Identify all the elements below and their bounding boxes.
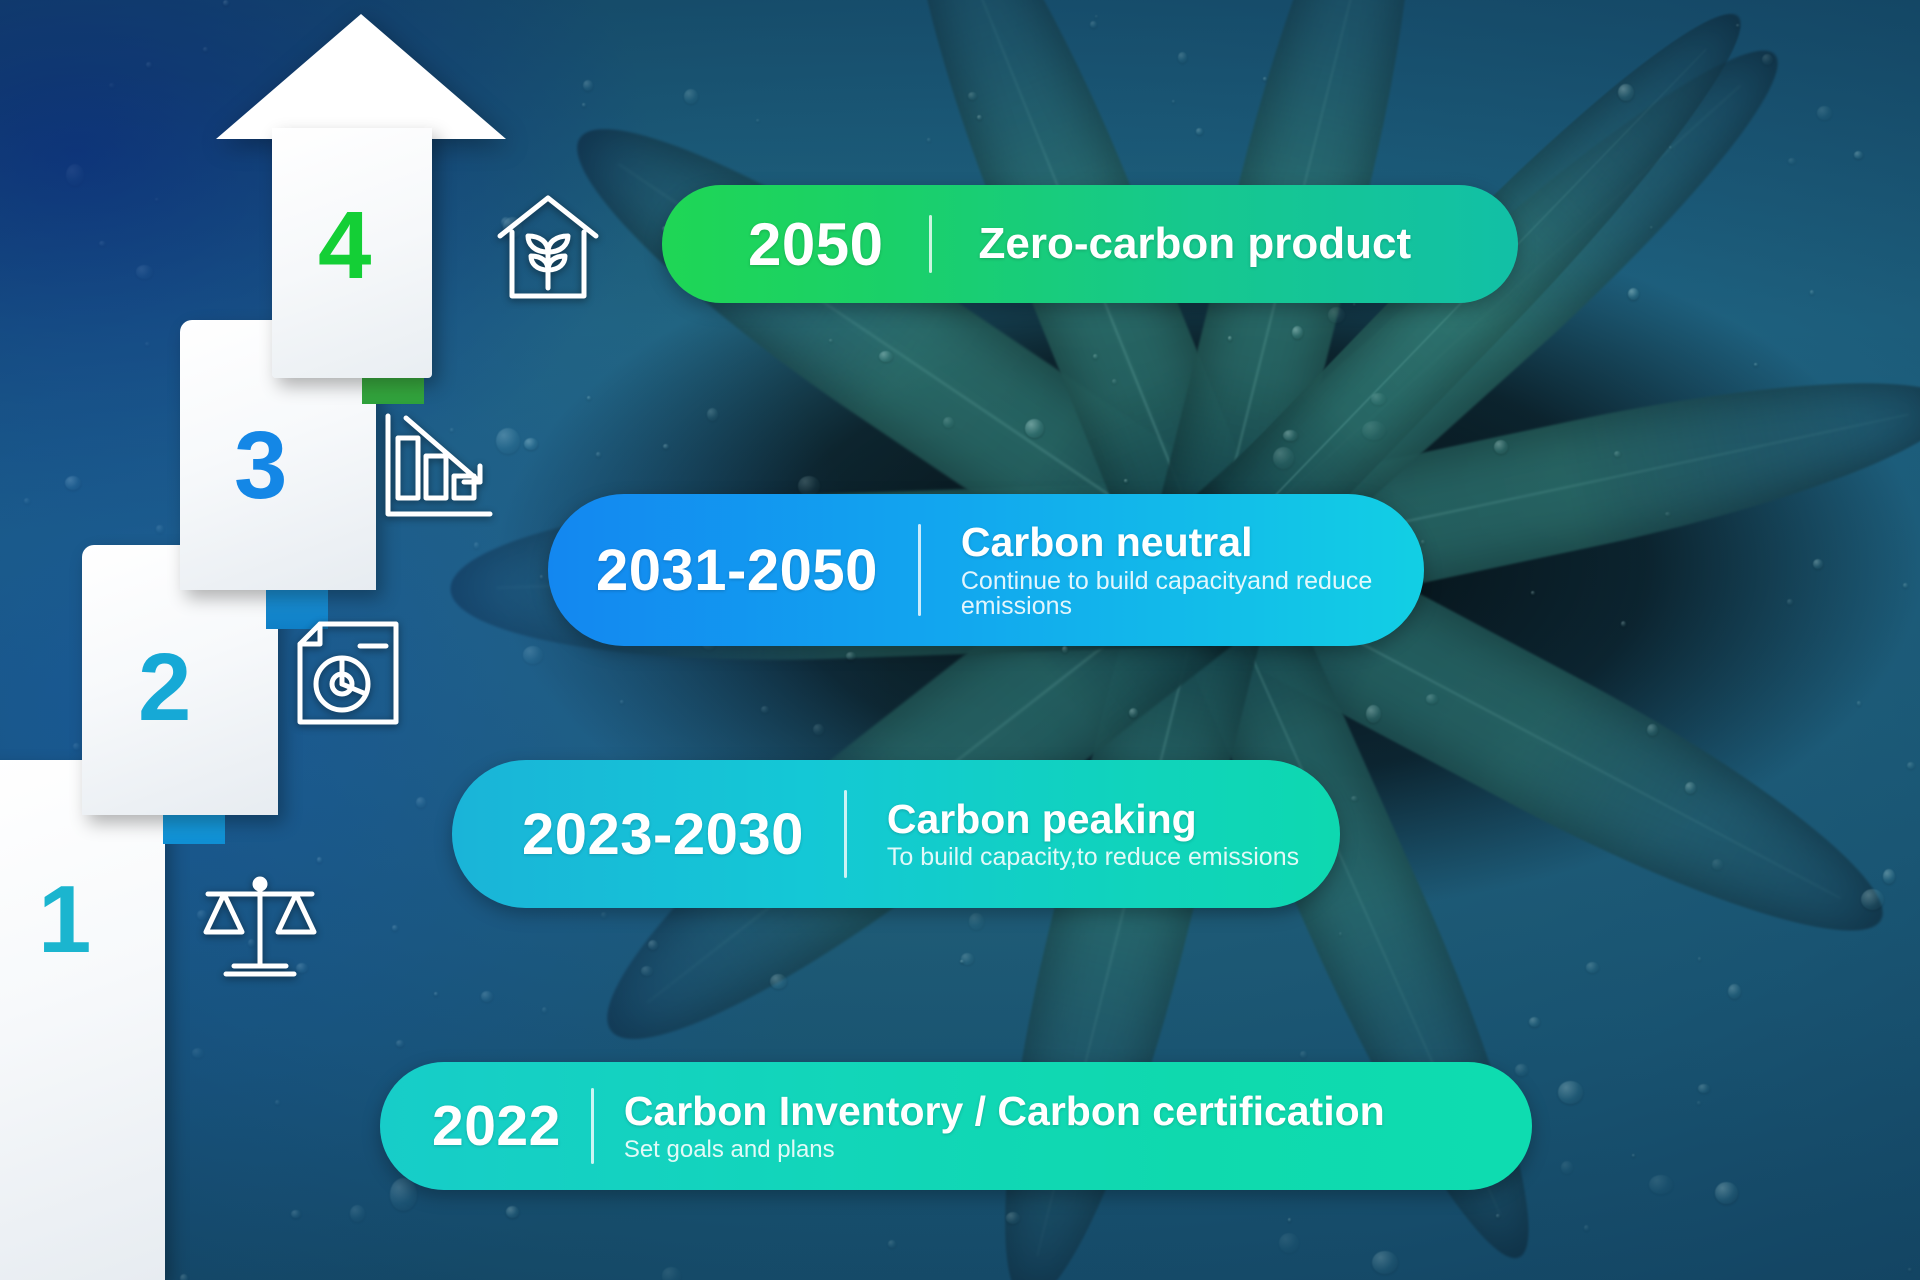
- pie-chart-document-icon: [290, 618, 408, 730]
- balance-scales-icon: [198, 870, 322, 982]
- milestone-year-2022: 2022: [432, 1093, 561, 1159]
- milestone-pill-2050[interactable]: 2050 Zero-carbon product: [662, 185, 1518, 303]
- declining-bar-chart-icon: [380, 410, 498, 522]
- arrow-head: [216, 14, 506, 139]
- milestone-text-2023-2030: Carbon peaking To build capacity,to redu…: [887, 798, 1299, 870]
- milestone-text-2022: Carbon Inventory / Carbon certification …: [624, 1090, 1385, 1161]
- step-number-3: 3: [234, 418, 287, 514]
- pill-divider: [918, 524, 921, 616]
- milestone-text-2050: Zero-carbon product: [978, 221, 1411, 267]
- infographic-canvas: 1 2 3 4: [0, 0, 1920, 1280]
- pill-divider: [591, 1088, 594, 1164]
- milestone-subtitle-2022: Set goals and plans: [624, 1138, 1385, 1162]
- milestone-subtitle-2023-2030: To build capacity,to reduce emissions: [887, 845, 1299, 870]
- milestone-title-2031-2050: Carbon neutral: [961, 521, 1424, 564]
- milestone-title-2050: Zero-carbon product: [978, 221, 1411, 267]
- milestone-year-2050: 2050: [748, 210, 883, 279]
- pill-divider: [844, 790, 847, 878]
- milestone-title-2023-2030: Carbon peaking: [887, 798, 1299, 841]
- step-block-1: [0, 760, 165, 1280]
- milestone-subtitle-2031-2050: Continue to build capacityand reduce emi…: [961, 569, 1424, 619]
- milestone-year-2031-2050: 2031-2050: [596, 537, 878, 604]
- milestone-pill-2023-2030[interactable]: 2023-2030 Carbon peaking To build capaci…: [452, 760, 1340, 908]
- milestone-pill-2031-2050[interactable]: 2031-2050 Carbon neutral Continue to bui…: [548, 494, 1424, 646]
- step-number-1: 1: [38, 872, 91, 968]
- milestone-title-2022: Carbon Inventory / Carbon certification: [624, 1090, 1385, 1133]
- milestone-text-2031-2050: Carbon neutral Continue to build capacit…: [961, 521, 1424, 618]
- step-number-4: 4: [318, 198, 371, 294]
- milestone-year-2023-2030: 2023-2030: [522, 801, 804, 868]
- house-plant-icon: [492, 188, 604, 306]
- step-number-2: 2: [138, 640, 191, 736]
- milestone-pill-2022[interactable]: 2022 Carbon Inventory / Carbon certifica…: [380, 1062, 1532, 1190]
- pill-divider: [929, 215, 932, 273]
